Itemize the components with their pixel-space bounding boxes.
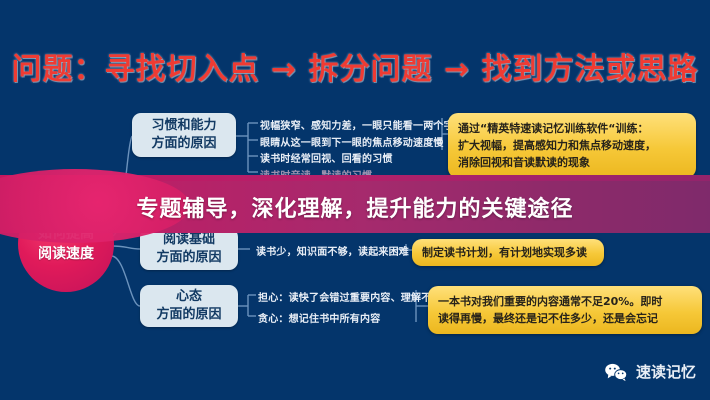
callout-reading-foundation: 制定读书计划，有计划地实现多读 — [412, 239, 604, 266]
branch-label-line2: 方面的原因 — [156, 306, 221, 324]
branch-label-line1: 习惯和能力 — [151, 117, 216, 135]
root-label-line2: 阅读速度 — [38, 244, 94, 264]
overlay-banner: 专题辅导，深化理解，提升能力的关键途径 — [0, 181, 710, 233]
callout-line: 扩大视幅，提高感知力和焦点移动速度， — [458, 137, 686, 154]
callout-line: 一本书对我们重要的内容通常不足20%。即时 — [438, 293, 692, 310]
watermark: 速读记忆 — [604, 361, 696, 382]
callout-line: 通过“精英特速读记忆训练软件“训练： — [458, 120, 686, 137]
detail-text: 读书少，知识面不够，读起来困难 — [256, 243, 409, 258]
callout-line: 读得再慢，最终还是记不住多少，还是会忘记 — [438, 310, 692, 327]
detail-text: 读书时经常回视、回看的习惯 — [260, 150, 393, 165]
branch-label-line1: 心态 — [176, 288, 202, 306]
branch-node-habit-ability: 习惯和能力 方面的原因 — [132, 113, 236, 157]
callout-habit-ability: 通过“精英特速读记忆训练软件“训练： 扩大视幅，提高感知力和焦点移动速度， 消除… — [448, 113, 696, 178]
detail-text: 担心：读快了会错过重要内容、理解不了 — [258, 289, 442, 304]
infographic-canvas: 问题：寻找切入点 → 拆分问题 → 找到方法或思路 — [0, 0, 710, 400]
detail-text: 眼睛从这一眼到下一眼的焦点移动速度慢 — [260, 134, 444, 149]
wechat-icon — [604, 362, 628, 382]
detail-text: 贪心：想记住书中所有内容 — [258, 310, 380, 325]
banner-text: 专题辅导，深化理解，提升能力的关键途径 — [136, 191, 573, 223]
watermark-label: 速读记忆 — [636, 361, 696, 382]
callout-mindset: 一本书对我们重要的内容通常不足20%。即时 读得再慢，最终还是记不住多少，还是会… — [428, 286, 702, 334]
detail-text: 视幅狭窄、感知力差，一眼只能看一两个字 — [260, 117, 454, 132]
branch-label-line1: 阅读基础 — [163, 231, 215, 249]
branch-label-line2: 方面的原因 — [151, 135, 216, 153]
branch-node-reading-foundation: 阅读基础 方面的原因 — [140, 228, 238, 270]
branch-label-line2: 方面的原因 — [156, 249, 221, 267]
branch-node-mindset: 心态 方面的原因 — [140, 285, 238, 327]
callout-line: 制定读书计划，有计划地实现多读 — [422, 244, 594, 261]
callout-line: 消除回视和音读默读的现象 — [458, 154, 686, 171]
